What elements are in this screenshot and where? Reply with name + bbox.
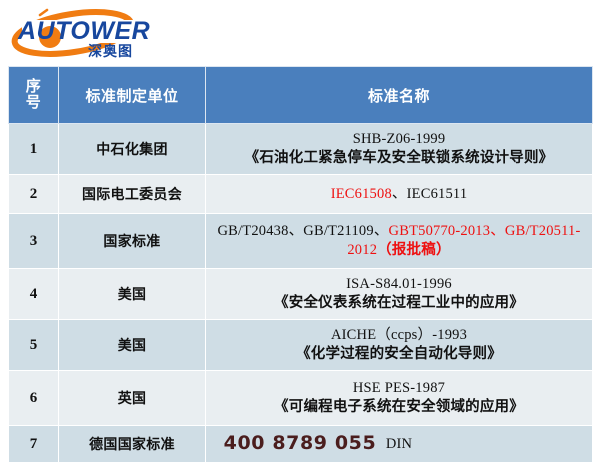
standard-code-highlighted: IEC61508 [331, 186, 392, 202]
cell-standard-name: SHB-Z06-1999 《石油化工紧急停车及安全联锁系统设计导则》 [206, 124, 593, 175]
standard-code: SHB-Z06-1999 [209, 130, 589, 149]
cell-organization: 美国 [59, 320, 206, 371]
cell-standard-name: HSE PES-1987 《可编程电子系统在安全领域的应用》 [206, 371, 593, 426]
standard-title: 《石油化工紧急停车及安全联锁系统设计导则》 [209, 149, 589, 168]
svg-text:AUTOWER: AUTOWER [17, 17, 150, 45]
cell-index: 2 [9, 175, 59, 214]
cell-standard-name: IEC61508、IEC61511 [206, 175, 593, 214]
cell-index: 6 [9, 371, 59, 426]
table-row: 2 国际电工委员会 IEC61508、IEC61511 [9, 175, 593, 214]
standard-title: 《化学过程的安全自动化导则》 [209, 345, 589, 364]
contact-phone-number: 400 8789 055 [0, 432, 600, 454]
cell-standard-name: GB/T20438、GB/T21109、GBT50770-2013、GB/T20… [206, 214, 593, 269]
table-row: 4 美国 ISA-S84.01-1996 《安全仪表系统在过程工业中的应用》 [9, 269, 593, 320]
cell-organization: 国际电工委员会 [59, 175, 206, 214]
standard-code: ISA-S84.01-1996 [209, 275, 589, 294]
table-row: 3 国家标准 GB/T20438、GB/T21109、GBT50770-2013… [9, 214, 593, 269]
autower-logo-icon: AUTOWER 深奥图 [10, 6, 160, 60]
standard-status-note: （报批稿） [377, 242, 451, 258]
standard-code-highlighted: GBT50770-2013、GB/T [389, 223, 539, 239]
company-logo: AUTOWER 深奥图 [10, 6, 160, 60]
table-header-row: 序 号 标准制定单位 标准名称 [9, 67, 593, 124]
cell-organization: 中石化集团 [59, 124, 206, 175]
column-header-index-line1: 序 [26, 79, 42, 94]
table-row: 5 美国 AICHE（ccps）-1993 《化学过程的安全自动化导则》 [9, 320, 593, 371]
column-header-index: 序 号 [9, 67, 59, 124]
cell-standard-name: ISA-S84.01-1996 《安全仪表系统在过程工业中的应用》 [206, 269, 593, 320]
cell-organization: 美国 [59, 269, 206, 320]
cell-organization: 英国 [59, 371, 206, 426]
standard-code: AICHE（ccps）-1993 [209, 326, 589, 345]
column-header-standard-name: 标准名称 [206, 67, 593, 124]
standard-code: 、IEC61511 [392, 186, 467, 202]
table-body: 1 中石化集团 SHB-Z06-1999 《石油化工紧急停车及安全联锁系统设计导… [9, 124, 593, 463]
standard-code: HSE PES-1987 [209, 379, 589, 398]
standard-title: 《安全仪表系统在过程工业中的应用》 [209, 294, 589, 313]
svg-text:深奥图: 深奥图 [88, 43, 133, 60]
cell-index: 1 [9, 124, 59, 175]
table-header: 序 号 标准制定单位 标准名称 [9, 67, 593, 124]
table-row: 6 英国 HSE PES-1987 《可编程电子系统在安全领域的应用》 [9, 371, 593, 426]
cell-index: 4 [9, 269, 59, 320]
column-header-index-line2: 号 [26, 95, 42, 110]
standard-code: GB/T20438、GB/T21109、 [218, 223, 389, 239]
column-header-organization: 标准制定单位 [59, 67, 206, 124]
cell-index: 3 [9, 214, 59, 269]
cell-organization: 国家标准 [59, 214, 206, 269]
standard-title: 《可编程电子系统在安全领域的应用》 [209, 398, 589, 417]
standards-table: 序 号 标准制定单位 标准名称 1 中石化集团 SHB-Z06-1999 《石油… [8, 66, 593, 463]
cell-standard-name: AICHE（ccps）-1993 《化学过程的安全自动化导则》 [206, 320, 593, 371]
cell-index: 5 [9, 320, 59, 371]
table-row: 1 中石化集团 SHB-Z06-1999 《石油化工紧急停车及安全联锁系统设计导… [9, 124, 593, 175]
slide-page: AUTOWER 深奥图 序 号 标准制定单位 标准名称 [0, 0, 600, 464]
